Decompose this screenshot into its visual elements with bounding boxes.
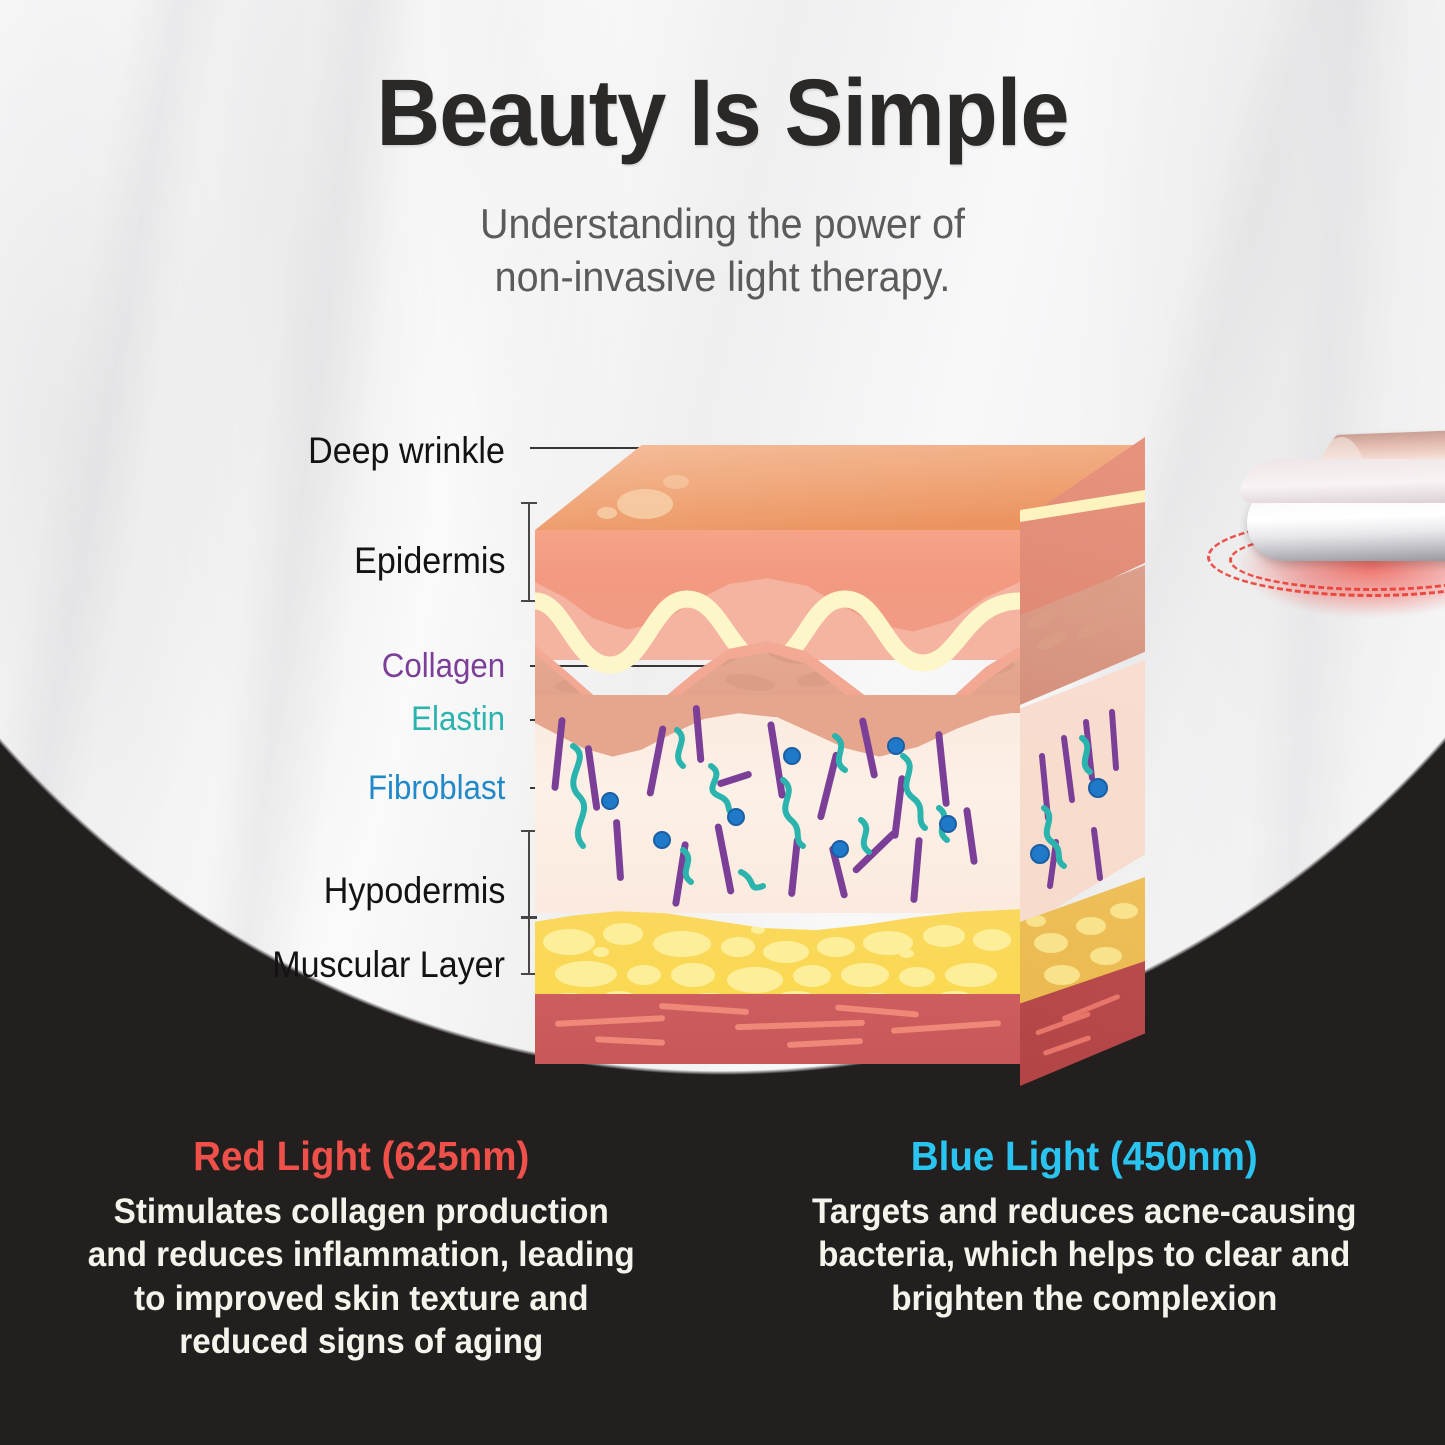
skin-diagram: Deep wrinkle Epidermis Collagen Elastin … [0, 350, 1445, 1010]
label-muscular-layer: Muscular Layer [272, 944, 505, 986]
fibroblast-cell [783, 747, 801, 765]
light-therapy-wand[interactable] [1225, 435, 1445, 595]
pore-icon [617, 489, 673, 519]
pore-icon [597, 507, 617, 519]
label-fibroblast: Fibroblast [368, 769, 505, 808]
label-deep-wrinkle: Deep wrinkle [308, 430, 505, 472]
wand-head-top-surface [1233, 459, 1445, 503]
label-collagen: Collagen [382, 647, 505, 686]
red-light-description: Stimulates collagen production and reduc… [54, 1190, 668, 1364]
skin-block-3d [535, 445, 1145, 990]
fibroblast-cell [727, 808, 745, 826]
red-light-column: Red Light (625nm) Stimulates collagen pr… [0, 1075, 723, 1445]
bracket-hypodermis-muscle [528, 830, 530, 975]
blue-light-column: Blue Light (450nm) Targets and reduces a… [723, 1075, 1445, 1445]
pore-icon [663, 475, 689, 489]
muscular-layer [535, 994, 1020, 1064]
fibroblast-cell [939, 815, 957, 833]
label-elastin: Elastin [411, 700, 505, 739]
fibroblast-cell [601, 792, 619, 810]
label-hypodermis: Hypodermis [323, 870, 505, 912]
page-title: Beauty Is Simple [51, 66, 1395, 161]
red-light-title: Red Light (625nm) [57, 1133, 665, 1180]
fibroblast-cell [887, 737, 905, 755]
bracket-epidermis [528, 502, 530, 602]
fibroblast-cell [653, 831, 671, 849]
blue-light-title: Blue Light (450nm) [780, 1133, 1388, 1180]
label-epidermis: Epidermis [354, 540, 505, 582]
light-therapy-comparison: Red Light (625nm) Stimulates collagen pr… [0, 1075, 1445, 1445]
fibroblast-cell [831, 840, 849, 858]
page-subtitle: Understanding the power of non-invasive … [43, 198, 1401, 303]
blue-light-description: Targets and reduces acne-causing bacteri… [777, 1190, 1391, 1320]
